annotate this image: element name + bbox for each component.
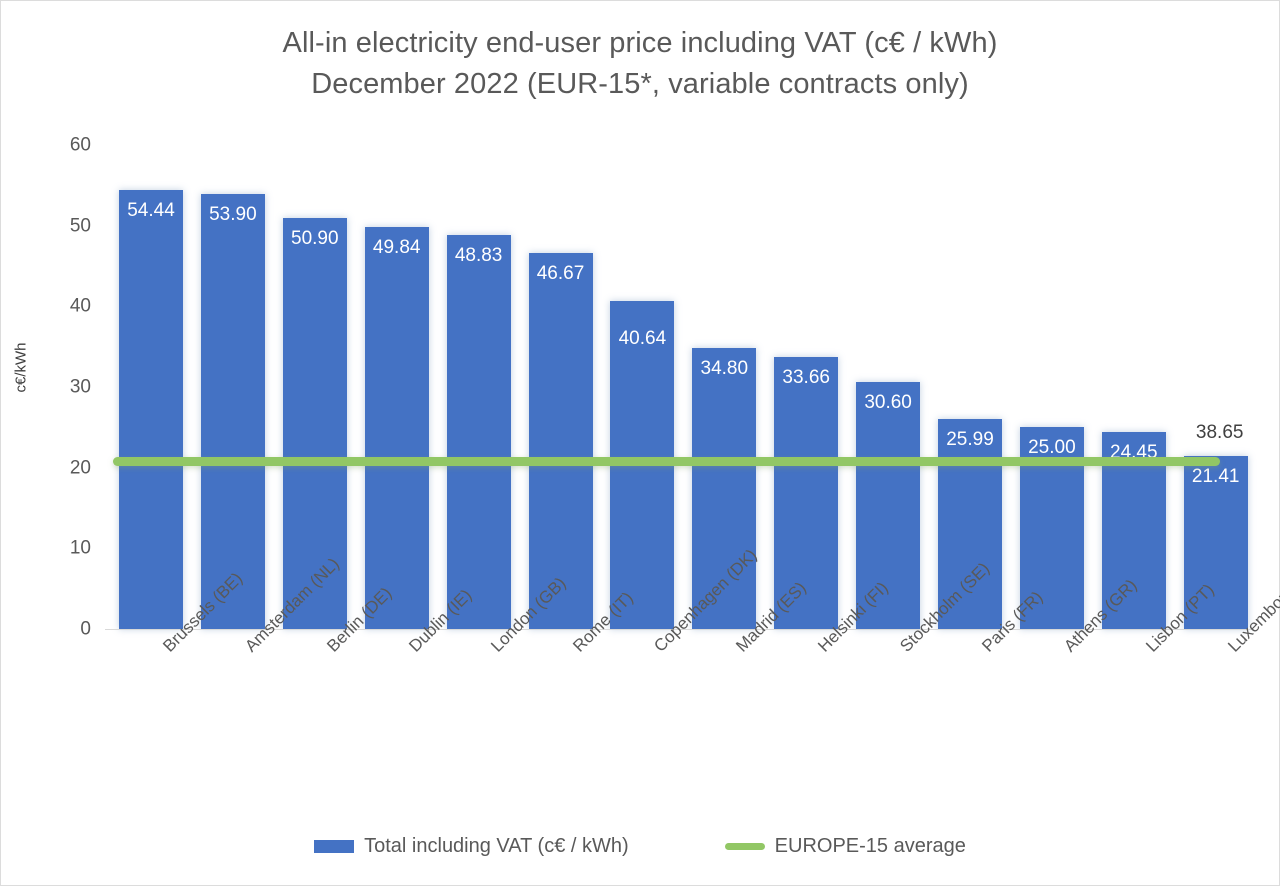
- y-axis-title: c€/kWh: [13, 308, 30, 428]
- y-axis-tick-label: 50: [31, 216, 91, 235]
- bar-value-label: 25.99: [938, 430, 1002, 449]
- bar-value-label: 21.41: [1184, 467, 1248, 486]
- bar[interactable]: [529, 253, 593, 629]
- bar[interactable]: [201, 194, 265, 629]
- chart-title-line-1: All-in electricity end-user price includ…: [1, 23, 1279, 64]
- chart-container: All-in electricity end-user price includ…: [0, 0, 1280, 886]
- legend-line-swatch-icon: [725, 843, 765, 850]
- y-axis-tick-label: 20: [31, 458, 91, 477]
- chart-legend: Total including VAT (c€ / kWh)EUROPE-15 …: [1, 835, 1279, 857]
- bar[interactable]: [447, 235, 511, 629]
- bar-value-label: 30.60: [856, 393, 920, 412]
- bar-value-label: 46.67: [529, 264, 593, 283]
- bar-value-label: 53.90: [201, 205, 265, 224]
- bar-value-label: 54.44: [119, 201, 183, 220]
- bar-value-label: 34.80: [692, 359, 756, 378]
- y-axis-tick-label: 60: [31, 136, 91, 155]
- legend-entry[interactable]: Total including VAT (c€ / kWh): [314, 835, 629, 857]
- legend-label: EUROPE-15 average: [775, 835, 966, 857]
- bar-group[interactable]: 53.90: [201, 194, 265, 629]
- bar-group[interactable]: 46.67: [529, 253, 593, 629]
- plot-area: 54.4453.9050.9049.8448.8346.6740.6434.80…: [105, 145, 1251, 629]
- y-axis-tick-label: 40: [31, 297, 91, 316]
- legend-bar-swatch-icon: [314, 840, 354, 853]
- y-axis-tick-label: 30: [31, 378, 91, 397]
- bar-value-label: 40.64: [610, 329, 674, 348]
- bar-value-label: 49.84: [365, 238, 429, 257]
- chart-title: All-in electricity end-user price includ…: [1, 23, 1279, 105]
- chart-title-line-2: December 2022 (EUR-15*, variable contrac…: [1, 64, 1279, 105]
- bar-value-label: 48.83: [447, 246, 511, 265]
- average-line-label: 38.65: [1165, 423, 1275, 442]
- bar[interactable]: [119, 190, 183, 629]
- bar-group[interactable]: 48.83: [447, 235, 511, 629]
- bar-value-label: 33.66: [774, 368, 838, 387]
- legend-label: Total including VAT (c€ / kWh): [364, 835, 629, 857]
- bar-group[interactable]: 49.84: [365, 227, 429, 629]
- bar-value-label: 25.00: [1020, 438, 1084, 457]
- legend-entry[interactable]: EUROPE-15 average: [725, 835, 966, 857]
- bar[interactable]: [365, 227, 429, 629]
- bar-group[interactable]: 54.44: [119, 190, 183, 629]
- bar-value-label: 50.90: [283, 229, 347, 248]
- average-line[interactable]: [113, 457, 1220, 466]
- y-axis-tick-label: 10: [31, 539, 91, 558]
- x-axis: Brussels (BE)Amsterdam (NL)Berlin (DE)Du…: [1, 629, 1280, 819]
